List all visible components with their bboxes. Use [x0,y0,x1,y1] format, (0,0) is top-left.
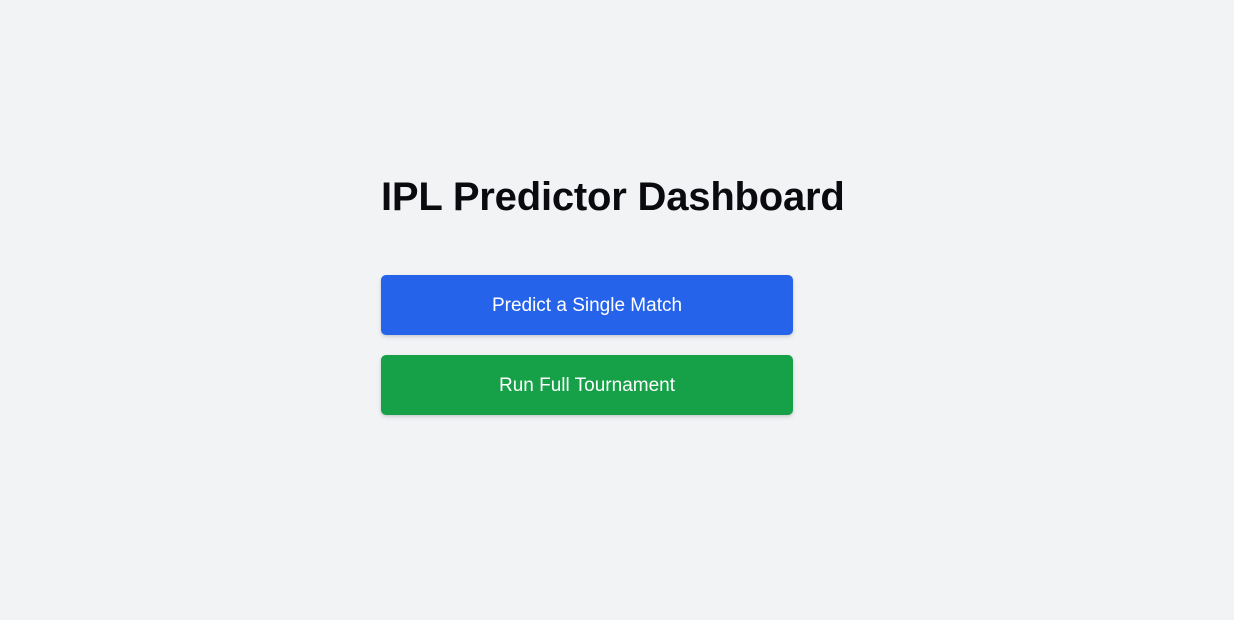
dashboard-content: IPL Predictor Dashboard Predict a Single… [381,170,793,415]
action-button-group: Predict a Single Match Run Full Tourname… [381,275,793,415]
dashboard-page: IPL Predictor Dashboard Predict a Single… [0,0,1234,620]
run-full-tournament-button[interactable]: Run Full Tournament [381,355,793,415]
predict-single-match-button[interactable]: Predict a Single Match [381,275,793,335]
predict-single-match-label: Predict a Single Match [492,296,682,315]
page-title: IPL Predictor Dashboard [381,170,793,224]
run-full-tournament-label: Run Full Tournament [499,376,675,395]
